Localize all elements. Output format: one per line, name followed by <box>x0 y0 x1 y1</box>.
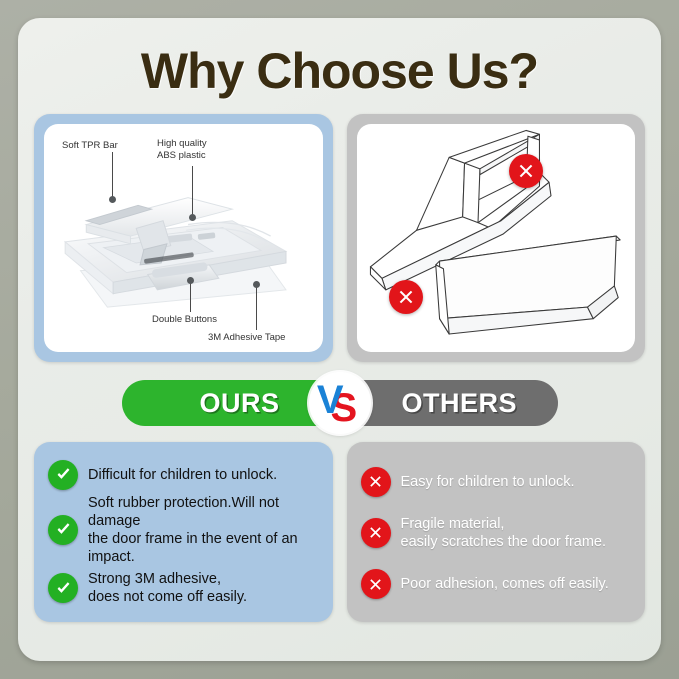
x-icon <box>361 569 391 599</box>
ours-product-panel: Soft TPR Bar High quality ABS plastic Do… <box>34 114 333 362</box>
list-item: Strong 3M adhesive, does not come off ea… <box>48 570 321 606</box>
ours-benefit-text: Strong 3M adhesive, does not come off ea… <box>88 570 247 606</box>
vs-letter-v: V <box>317 378 344 423</box>
others-pill: OTHERS <box>340 380 558 426</box>
list-item: Difficult for children to unlock. <box>48 460 321 490</box>
ours-benefit-text: Difficult for children to unlock. <box>88 466 277 484</box>
x-icon <box>361 518 391 548</box>
content-card: Why Choose Us? <box>18 18 661 661</box>
infographic-stage: Why Choose Us? <box>0 0 679 679</box>
others-drawbacks-list: Easy for children to unlock. Fragile mat… <box>347 442 646 622</box>
image-panels: Soft TPR Bar High quality ABS plastic Do… <box>34 114 645 362</box>
others-drawback-text: Easy for children to unlock. <box>401 473 575 491</box>
vs-banner: OURS OTHERS V S <box>34 372 645 434</box>
list-item: Fragile material, easily scratches the d… <box>361 515 634 551</box>
check-icon <box>48 460 78 490</box>
callout-3m-tape: 3M Adhesive Tape <box>208 332 285 344</box>
callout-dot-tape <box>253 281 260 288</box>
leader-line-abs <box>192 166 193 216</box>
others-drawback-text: Poor adhesion, comes off easily. <box>401 575 609 593</box>
others-product-panel <box>347 114 646 362</box>
leader-line-tpr <box>112 152 113 198</box>
callout-double-buttons: Double Buttons <box>152 314 217 326</box>
x-icon <box>397 288 415 306</box>
competitor-drawings <box>357 124 636 352</box>
x-icon <box>517 162 535 180</box>
check-icon <box>48 573 78 603</box>
x-icon <box>361 467 391 497</box>
check-icon <box>48 515 78 545</box>
callout-dot-tpr <box>109 196 116 203</box>
callout-dot-abs <box>189 214 196 221</box>
cross-mark-1 <box>509 154 543 188</box>
product-illustration: Soft TPR Bar High quality ABS plastic Do… <box>44 124 323 352</box>
list-item: Soft rubber protection.Will not damage t… <box>48 494 321 567</box>
ours-benefits-list: Difficult for children to unlock. Soft r… <box>34 442 333 622</box>
callout-dot-buttons <box>187 277 194 284</box>
leader-line-buttons <box>190 282 191 312</box>
vs-badge: V S <box>309 372 371 434</box>
ours-pill: OURS <box>122 380 340 426</box>
page-title: Why Choose Us? <box>34 46 645 96</box>
cross-mark-2 <box>389 280 423 314</box>
competitor-illustration <box>357 124 636 352</box>
list-item: Poor adhesion, comes off easily. <box>361 569 634 599</box>
comparison-lists: Difficult for children to unlock. Soft r… <box>34 442 645 622</box>
list-item: Easy for children to unlock. <box>361 467 634 497</box>
callout-soft-tpr-bar: Soft TPR Bar <box>62 140 118 152</box>
leader-line-tape <box>256 286 257 330</box>
ours-benefit-text: Soft rubber protection.Will not damage t… <box>88 494 321 567</box>
callout-abs-plastic: High quality ABS plastic <box>157 138 207 161</box>
others-drawback-text: Fragile material, easily scratches the d… <box>401 515 607 551</box>
